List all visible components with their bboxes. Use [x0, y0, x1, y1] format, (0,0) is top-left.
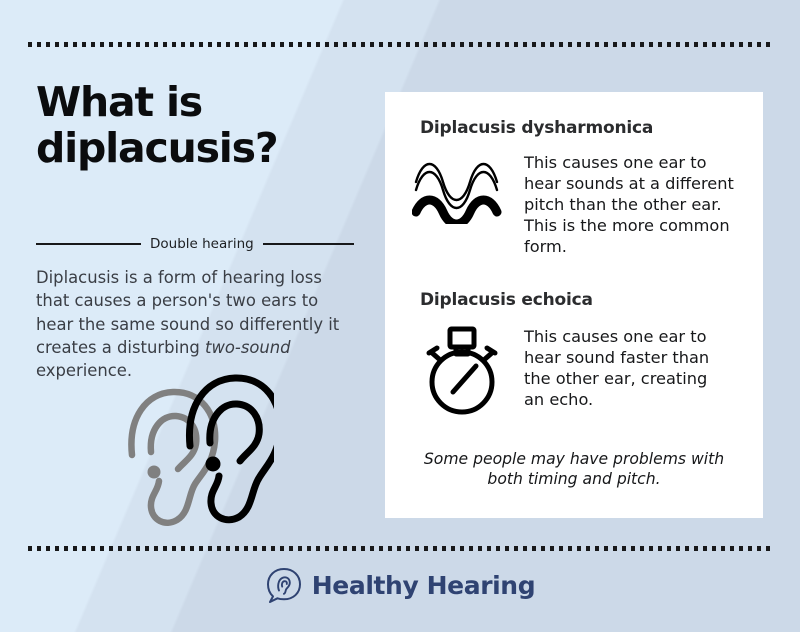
divider-label: Double hearing [150, 236, 254, 252]
brand-name: Healthy Hearing [312, 571, 535, 600]
left-column: What is diplacusis? [36, 80, 366, 172]
divider: Double hearing [36, 236, 354, 252]
two-ears-illustration [118, 360, 274, 532]
divider-line-right [263, 243, 354, 245]
sound-waves-icon [412, 156, 512, 224]
ear-speech-bubble-icon [265, 566, 303, 604]
card-note: Some people may have problems with both … [419, 450, 729, 490]
footer-brand[interactable]: Healthy Hearing [0, 566, 800, 604]
ear-outline-front-icon [189, 378, 274, 520]
sound-wave-thick [416, 200, 497, 224]
section-body-dysharmonica: This causes one ear to hear sounds at a … [524, 152, 739, 257]
section-heading-echoica: Diplacusis echoica [420, 290, 593, 310]
dotted-rule-top [28, 42, 773, 47]
page-title: What is diplacusis? [36, 80, 336, 172]
dotted-rule-bottom [28, 546, 773, 551]
divider-line-left [36, 243, 141, 245]
section-body-echoica: This causes one ear to hear sound faster… [524, 326, 724, 410]
ear-outline-back-icon [131, 392, 215, 523]
lead-paragraph-emphasis: two-sound [205, 338, 291, 357]
stopwatch-icon [415, 324, 511, 416]
infographic-poster: What is diplacusis? Double hearing Dipla… [0, 0, 800, 632]
lead-paragraph-part-1: Diplacusis is a form of hearing loss tha… [36, 268, 339, 357]
section-heading-dysharmonica: Diplacusis dysharmonica [420, 118, 653, 138]
info-card: Diplacusis dysharmonica This causes one … [385, 92, 763, 518]
